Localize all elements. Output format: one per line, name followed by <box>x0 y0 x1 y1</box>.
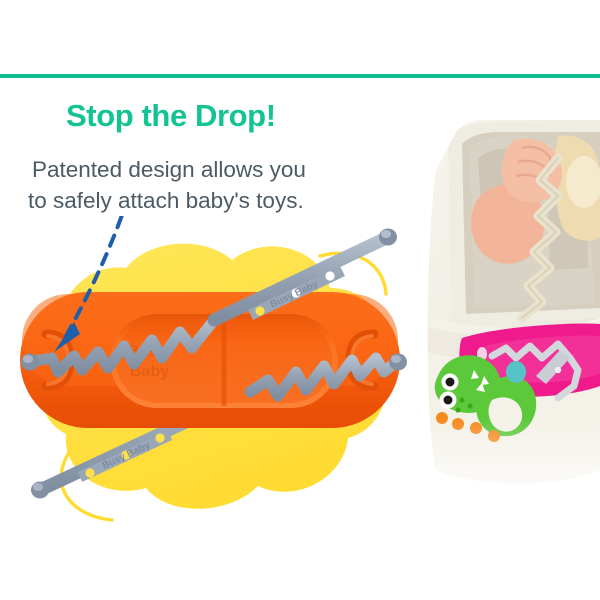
lifestyle-photo <box>418 118 600 518</box>
page-title: Stop the Drop! <box>66 98 276 134</box>
subtitle-line-1: Patented design allows you <box>32 157 306 182</box>
promo-banner: Stop the Drop! Patented design allows yo… <box>0 0 600 600</box>
top-divider-rule <box>0 74 600 78</box>
subtitle-text: Patented design allows you to safely att… <box>32 154 362 216</box>
subtitle-line-2: to safely attach baby's toys. <box>28 185 362 216</box>
product-illustration: Busy Baby Busy Baby <box>0 216 420 526</box>
